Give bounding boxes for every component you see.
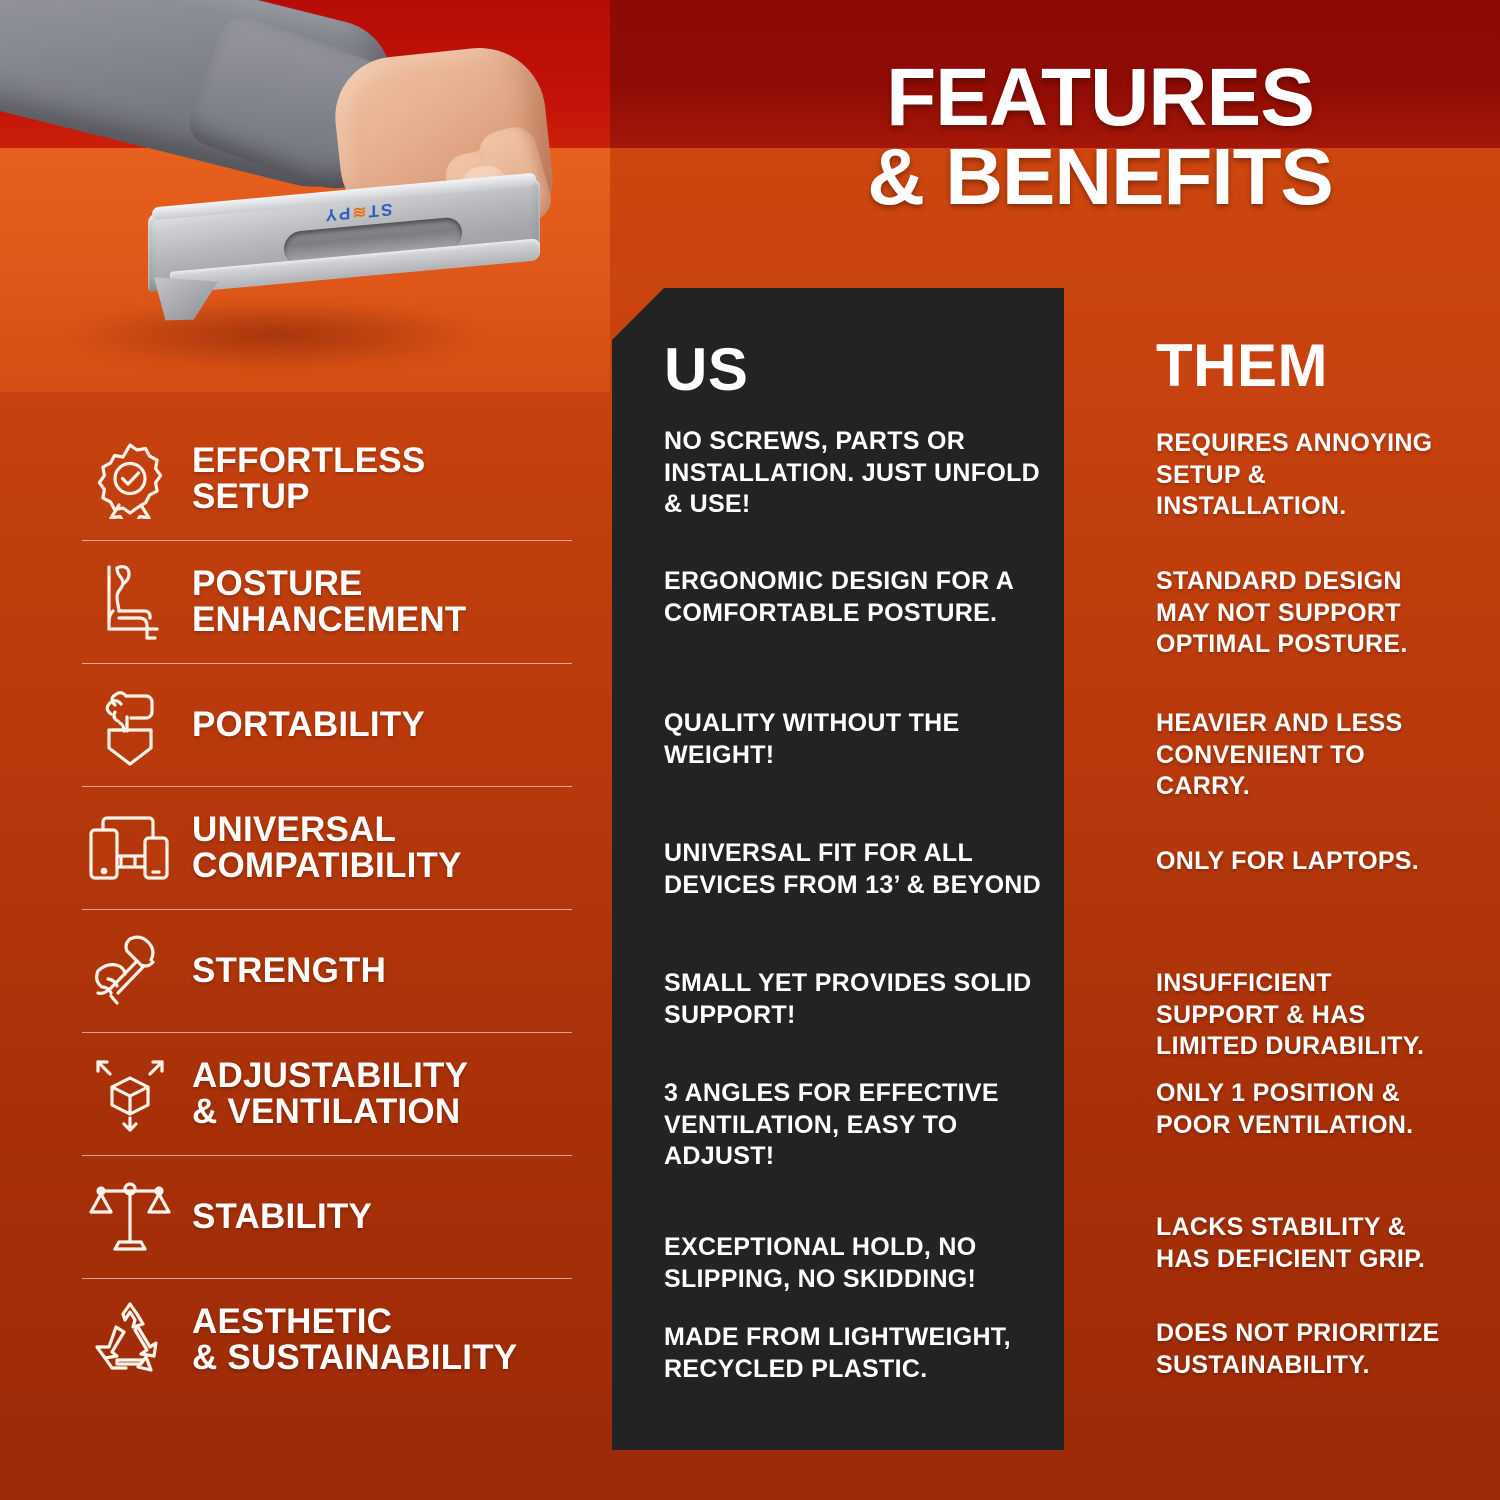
- brand-logo-text-a: ST: [367, 200, 393, 221]
- page-title: FEATURES & BENEFITS: [830, 58, 1370, 217]
- feature-label: AESTHETIC& SUSTAINABILITY: [178, 1304, 517, 1375]
- devices-icon: [82, 802, 178, 894]
- title-line-2: & BENEFITS: [830, 138, 1370, 216]
- them-item: LACKS STABILITY & HAS DEFICIENT GRIP.: [1156, 1212, 1456, 1275]
- them-item: INSUFFICIENT SUPPORT & HAS LIMITED DURAB…: [1156, 968, 1456, 1063]
- feature-row-portability[interactable]: PORTABILITY: [82, 664, 572, 787]
- feature-label: UNIVERSALCOMPATIBILITY: [178, 812, 462, 883]
- them-item: DOES NOT PRIORITIZE SUSTAINABILITY.: [1156, 1318, 1456, 1381]
- features-benefits-poster: ST≋PY FEATURES & BENEFITS EFFORTLESSSETU…: [0, 0, 1500, 1500]
- us-item: 3 ANGLES FOR EFFECTIVE VENTILATION, EASY…: [664, 1078, 1044, 1173]
- product-shadow: [60, 300, 490, 370]
- feature-label: PORTABILITY: [178, 707, 425, 743]
- feature-label: STABILITY: [178, 1199, 372, 1235]
- feature-label: ADJUSTABILITY& VENTILATION: [178, 1058, 468, 1129]
- recycle-icon: [82, 1294, 178, 1386]
- hand-hammer-icon: [82, 925, 178, 1017]
- hand-pocket-icon: [82, 679, 178, 771]
- feature-row-universal-compatibility[interactable]: UNIVERSALCOMPATIBILITY: [82, 787, 572, 910]
- product-photo: ST≋PY: [0, 0, 610, 392]
- feature-row-stability[interactable]: STABILITY: [82, 1156, 572, 1279]
- feature-label: STRENGTH: [178, 953, 386, 989]
- brand-logo-text-b: PY: [324, 203, 351, 224]
- feature-row-strength[interactable]: STRENGTH: [82, 910, 572, 1033]
- feature-row-aesthetic-sustainability[interactable]: AESTHETIC& SUSTAINABILITY: [82, 1279, 572, 1401]
- feature-row-effortless-setup[interactable]: EFFORTLESSSETUP: [82, 418, 572, 541]
- feature-label: POSTUREENHANCEMENT: [178, 566, 466, 637]
- them-item: STANDARD DESIGN MAY NOT SUPPORT OPTIMAL …: [1156, 566, 1456, 661]
- them-item: REQUIRES ANNOYING SETUP & INSTALLATION.: [1156, 428, 1456, 523]
- cube-arrows-icon: [82, 1048, 178, 1140]
- us-item: UNIVERSAL FIT FOR ALL DEVICES FROM 13’ &…: [664, 838, 1044, 901]
- feature-row-adjustability-ventilation[interactable]: ADJUSTABILITY& VENTILATION: [82, 1033, 572, 1156]
- us-item: NO SCREWS, PARTS OR INSTALLATION. JUST U…: [664, 426, 1044, 521]
- them-item: ONLY 1 POSITION & POOR VENTILATION.: [1156, 1078, 1456, 1141]
- badge-check-icon: [82, 433, 178, 525]
- feature-label: EFFORTLESSSETUP: [178, 443, 425, 514]
- them-column-heading: THEM: [1156, 336, 1328, 396]
- title-line-1: FEATURES: [886, 52, 1314, 143]
- us-column-heading: US: [664, 340, 748, 400]
- them-item: ONLY FOR LAPTOPS.: [1156, 846, 1456, 878]
- us-item: ERGONOMIC DESIGN FOR A COMFORTABLE POSTU…: [664, 566, 1044, 629]
- us-item: SMALL YET PROVIDES SOLID SUPPORT!: [664, 968, 1044, 1031]
- balance-scale-icon: [82, 1171, 178, 1263]
- us-item: QUALITY WITHOUT THE WEIGHT!: [664, 708, 1044, 771]
- us-item: MADE FROM LIGHTWEIGHT, RECYCLED PLASTIC.: [664, 1322, 1044, 1385]
- us-item: EXCEPTIONAL HOLD, NO SLIPPING, NO SKIDDI…: [664, 1232, 1044, 1295]
- seated-posture-icon: [82, 556, 178, 648]
- feature-list: EFFORTLESSSETUP POSTUREENHANCEMENT: [82, 418, 572, 1401]
- them-item: HEAVIER AND LESS CONVENIENT TO CARRY.: [1156, 708, 1456, 803]
- brand-logo-mark: ≋: [350, 202, 366, 222]
- feature-row-posture-enhancement[interactable]: POSTUREENHANCEMENT: [82, 541, 572, 664]
